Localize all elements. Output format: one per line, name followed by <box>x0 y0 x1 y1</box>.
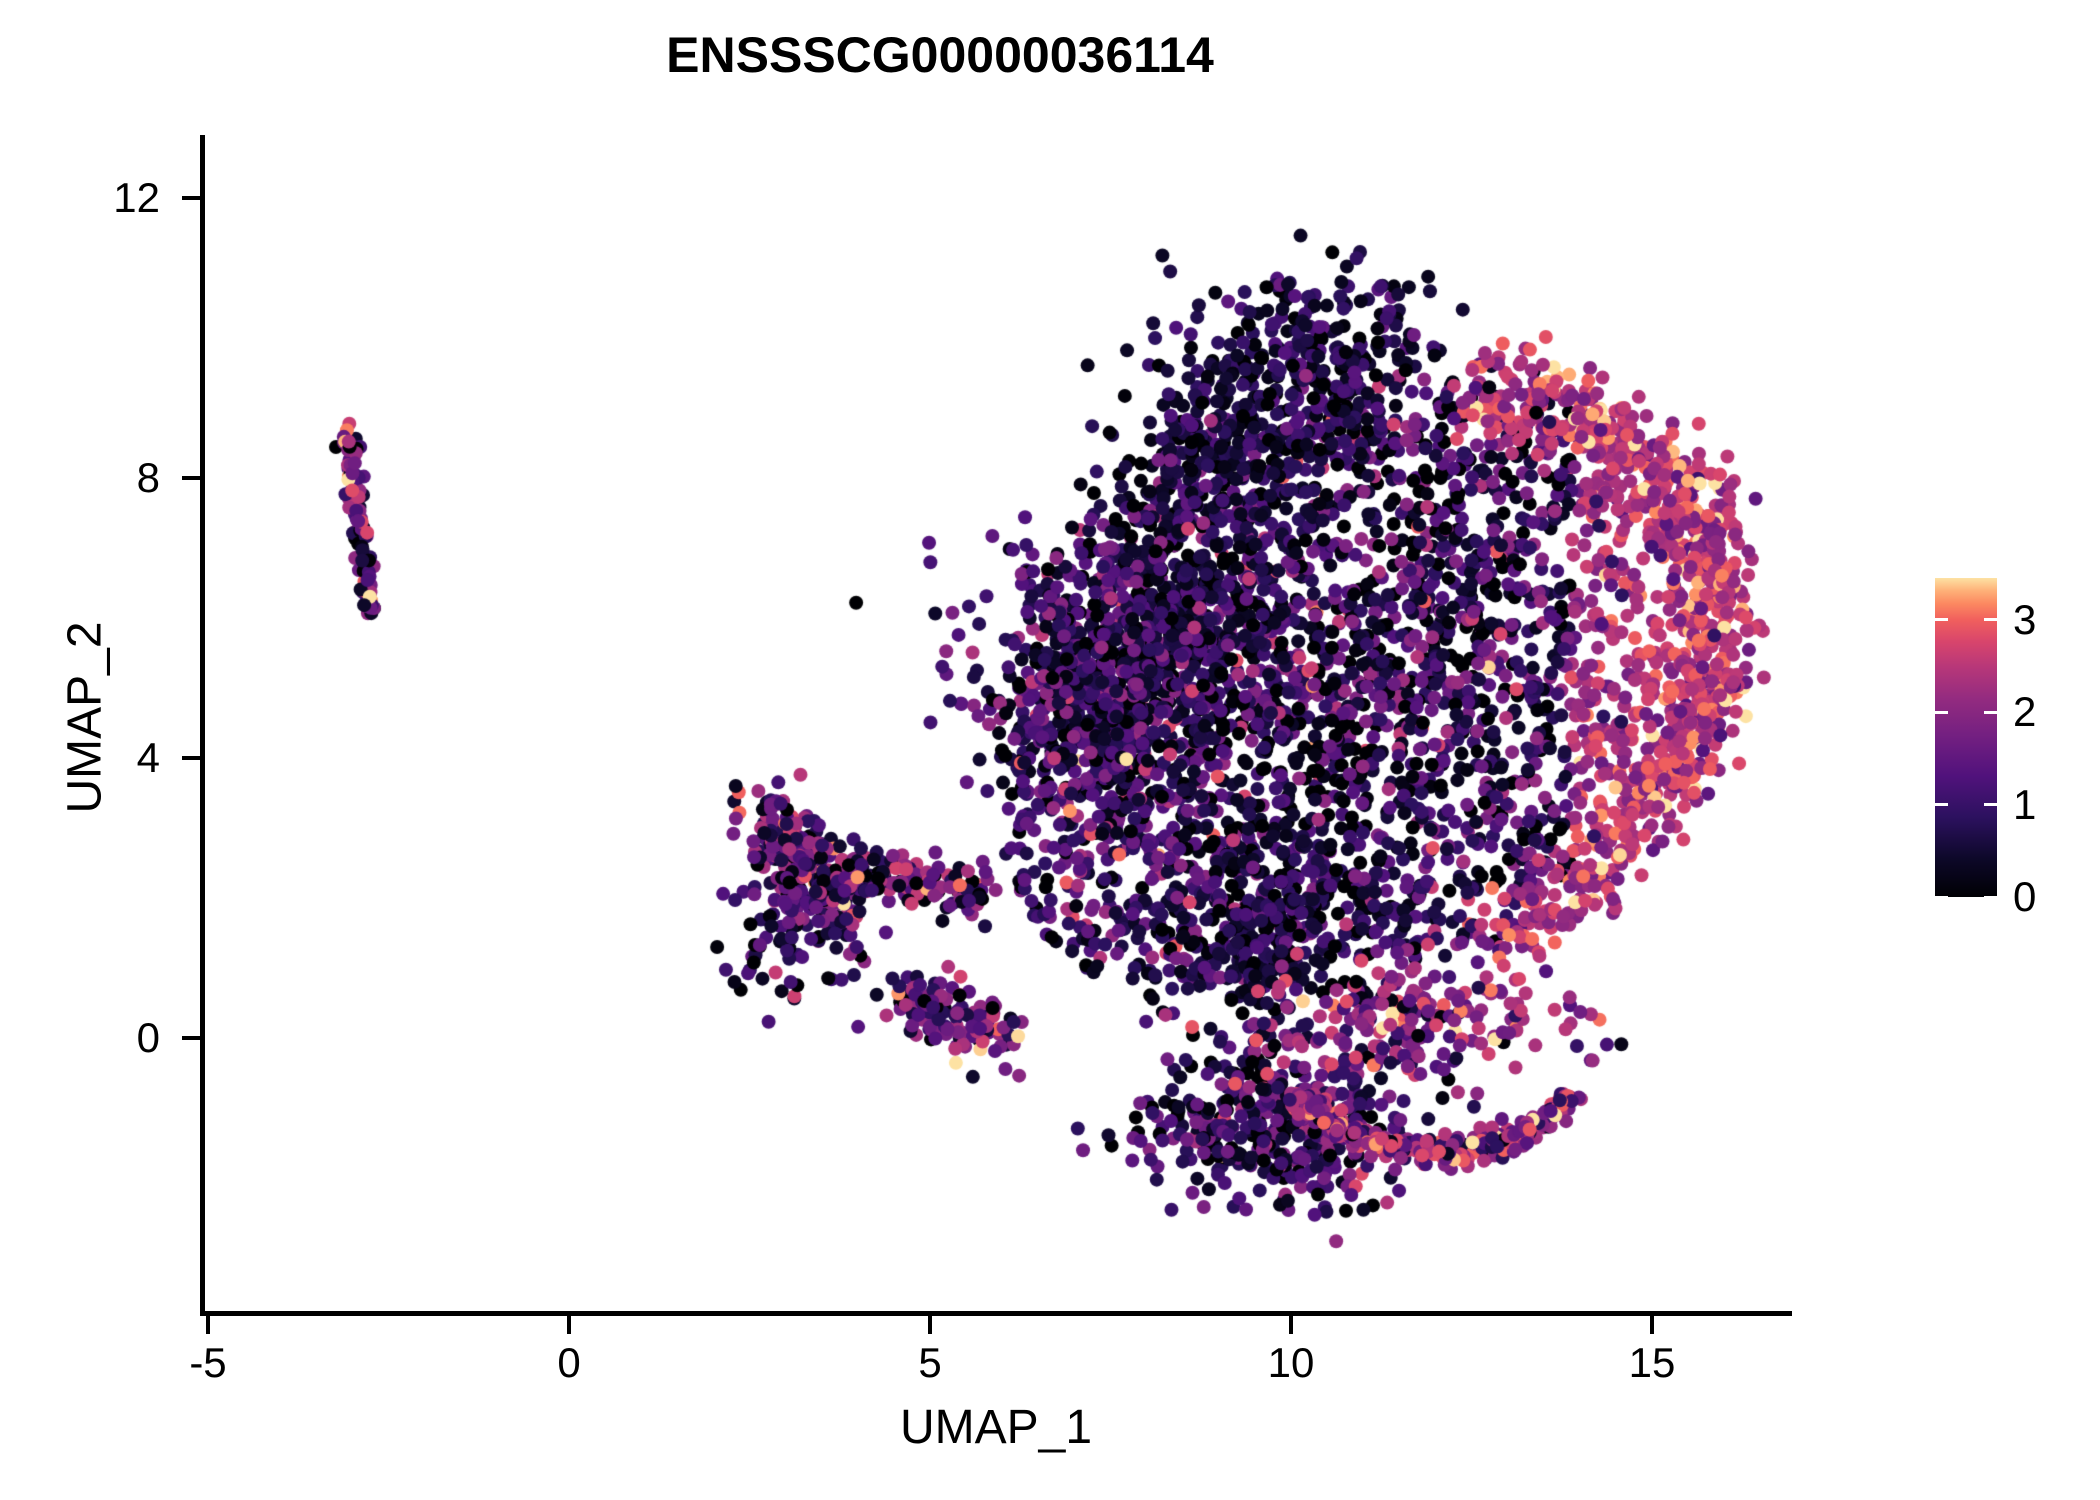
colorbar-gradient <box>1935 578 1997 897</box>
x-axis-tick-label: 5 <box>860 1342 1000 1384</box>
colorbar-legend: 0123 <box>1935 578 2085 908</box>
colorbar-tick-label: 0 <box>2013 876 2036 918</box>
plot-panel <box>204 135 1792 1315</box>
y-axis-line <box>200 135 205 1315</box>
x-axis-tick-label: 15 <box>1582 1342 1722 1384</box>
x-axis-tick-mark <box>206 1316 210 1334</box>
x-axis-tick-mark <box>567 1316 571 1334</box>
colorbar-tick-mark <box>1935 618 1997 621</box>
colorbar-tick-label: 3 <box>2013 599 2036 641</box>
x-axis-tick-label: 10 <box>1221 1342 1361 1384</box>
colorbar-tick-label: 1 <box>2013 784 2036 826</box>
scatter-points-layer <box>204 135 1792 1315</box>
colorbar-tick-mark <box>1935 896 1997 899</box>
y-axis-tick-mark <box>182 756 200 760</box>
y-axis-title: UMAP_2 <box>58 318 113 1118</box>
colorbar-tick-label: 2 <box>2013 691 2036 733</box>
x-axis-tick-mark <box>1289 1316 1293 1334</box>
page-title: ENSSSCG00000036114 <box>0 26 1880 84</box>
colorbar-tick-mark <box>1935 711 1997 714</box>
x-axis-tick-mark <box>1650 1316 1654 1334</box>
x-axis-title: UMAP_1 <box>200 1400 1792 1455</box>
y-axis-tick-label: 12 <box>60 177 160 219</box>
x-axis-tick-mark <box>928 1316 932 1334</box>
y-axis-tick-mark <box>182 476 200 480</box>
colorbar-tick-mark <box>1935 803 1997 806</box>
x-axis-tick-label: 0 <box>499 1342 639 1384</box>
x-axis-line <box>200 1311 1792 1316</box>
y-axis-tick-mark <box>182 1036 200 1040</box>
x-axis-tick-label: -5 <box>138 1342 278 1384</box>
y-axis-tick-mark <box>182 196 200 200</box>
umap-feature-plot: ENSSSCG00000036114 04812 -5051015 UMAP_1… <box>0 0 2100 1500</box>
